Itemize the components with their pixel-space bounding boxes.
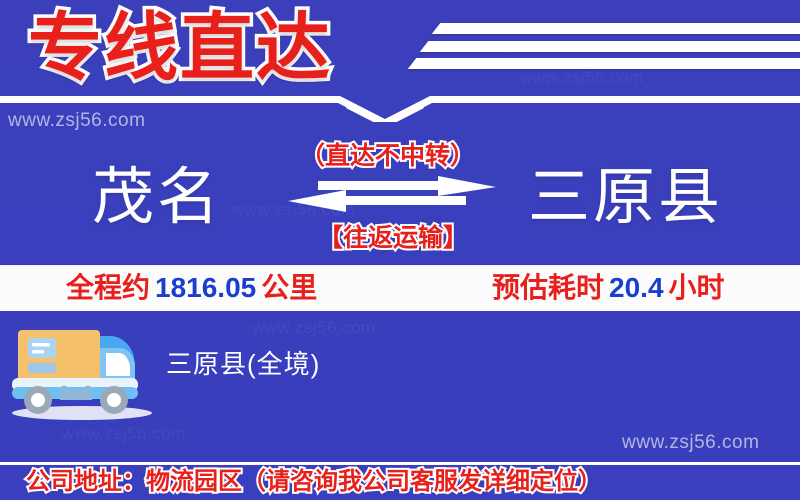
watermark-faint-lower: www.zsj56.com [252,318,376,338]
coverage-area-label: 三原县(全境) [166,347,320,381]
diagonal-stripe-3 [408,58,800,69]
distance-unit: 公里 [261,272,317,303]
duration-unit: 小时 [669,272,725,303]
footer-address-text: 公司地址：物流园区（请咨询我公司客服发详细定位） [26,466,602,498]
diagonal-stripe-2 [420,41,800,52]
banner-headline: 专线直达 [28,2,332,94]
duration-info: 预估耗时20.4小时 [492,269,725,307]
distance-value: 1816.05 [150,272,261,303]
watermark-top-left: www.zsj56.com [8,110,145,132]
bidirectional-arrow-icon [286,176,498,214]
delivery-truck-icon [6,318,158,422]
logistics-route-banner: www.zsj56.com www.zsj56.com www.zsj56.co… [0,0,800,500]
distance-info: 全程约1816.05公里 [66,269,317,307]
duration-label: 预估耗时 [492,272,604,303]
watermark-bottom-right: www.zsj56.com [622,432,759,454]
origin-city-label: 茂名 [92,162,222,234]
watermark-faint-bottom-left: www.zsj56.com [62,424,186,444]
destination-city-label: 三原县 [528,162,723,234]
diagonal-stripe-1 [432,23,800,34]
watermark-faint-top: www.zsj56.com [520,68,644,88]
round-trip-badge: 【往返运输】 [318,222,468,254]
info-band: 全程约1816.05公里 预估耗时20.4小时 [0,265,800,311]
distance-label: 全程约 [66,272,150,303]
direct-no-transfer-badge: （直达不中转） [300,140,475,172]
duration-value: 20.4 [604,272,669,303]
